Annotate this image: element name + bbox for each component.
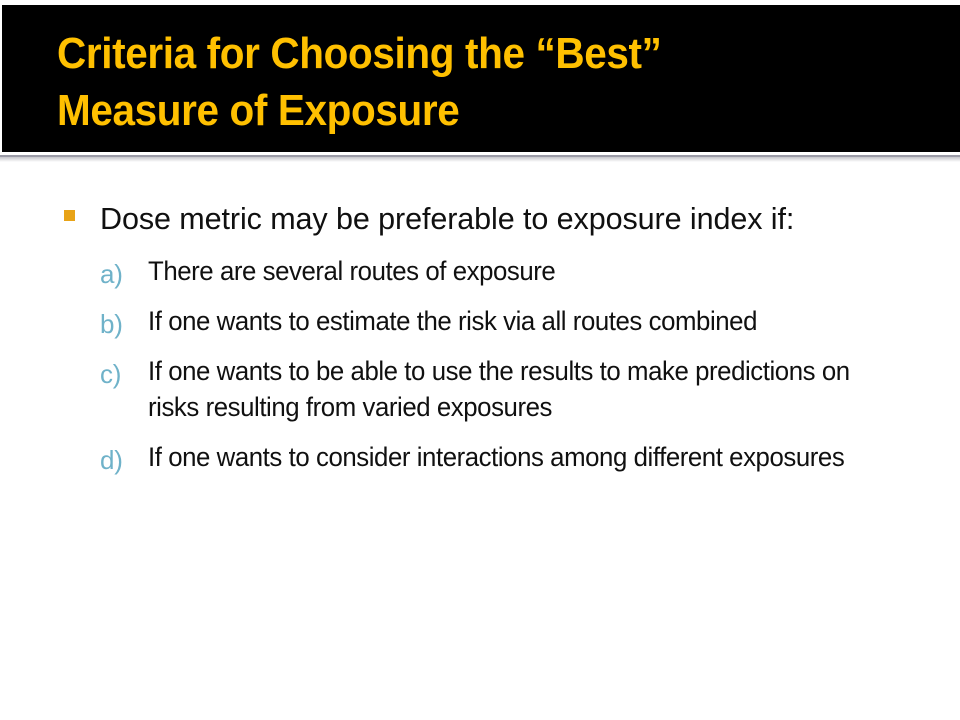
bullet-item-primary: Dose metric may be preferable to exposur…: [0, 170, 960, 239]
slide: Criteria for Choosing the “Best” Measure…: [0, 0, 960, 720]
slide-title: Criteria for Choosing the “Best” Measure…: [57, 25, 848, 139]
list-item-text-a: There are several routes of exposure: [148, 253, 874, 289]
list-item-marker-b: b): [100, 306, 123, 342]
list-item-text-b: If one wants to estimate the risk via al…: [148, 303, 874, 339]
square-bullet-icon: [64, 210, 75, 221]
list-item: a) There are several routes of exposure: [0, 239, 960, 289]
bullet-item-primary-text: Dose metric may be preferable to exposur…: [100, 198, 878, 239]
list-item: d) If one wants to consider interactions…: [0, 425, 960, 475]
list-item-text-d: If one wants to consider interactions am…: [148, 439, 874, 475]
slide-body: Dose metric may be preferable to exposur…: [0, 170, 960, 720]
title-divider-shadow: [0, 157, 960, 162]
list-item-text-c: If one wants to be able to use the resul…: [148, 353, 874, 425]
list-item: c) If one wants to be able to use the re…: [0, 339, 960, 425]
list-item-marker-d: d): [100, 442, 123, 478]
list-item: b) If one wants to estimate the risk via…: [0, 289, 960, 339]
sub-item-list: a) There are several routes of exposure …: [0, 239, 960, 475]
list-item-marker-a: a): [100, 256, 123, 292]
title-band: Criteria for Choosing the “Best” Measure…: [2, 5, 960, 152]
list-item-marker-c: c): [100, 356, 121, 392]
